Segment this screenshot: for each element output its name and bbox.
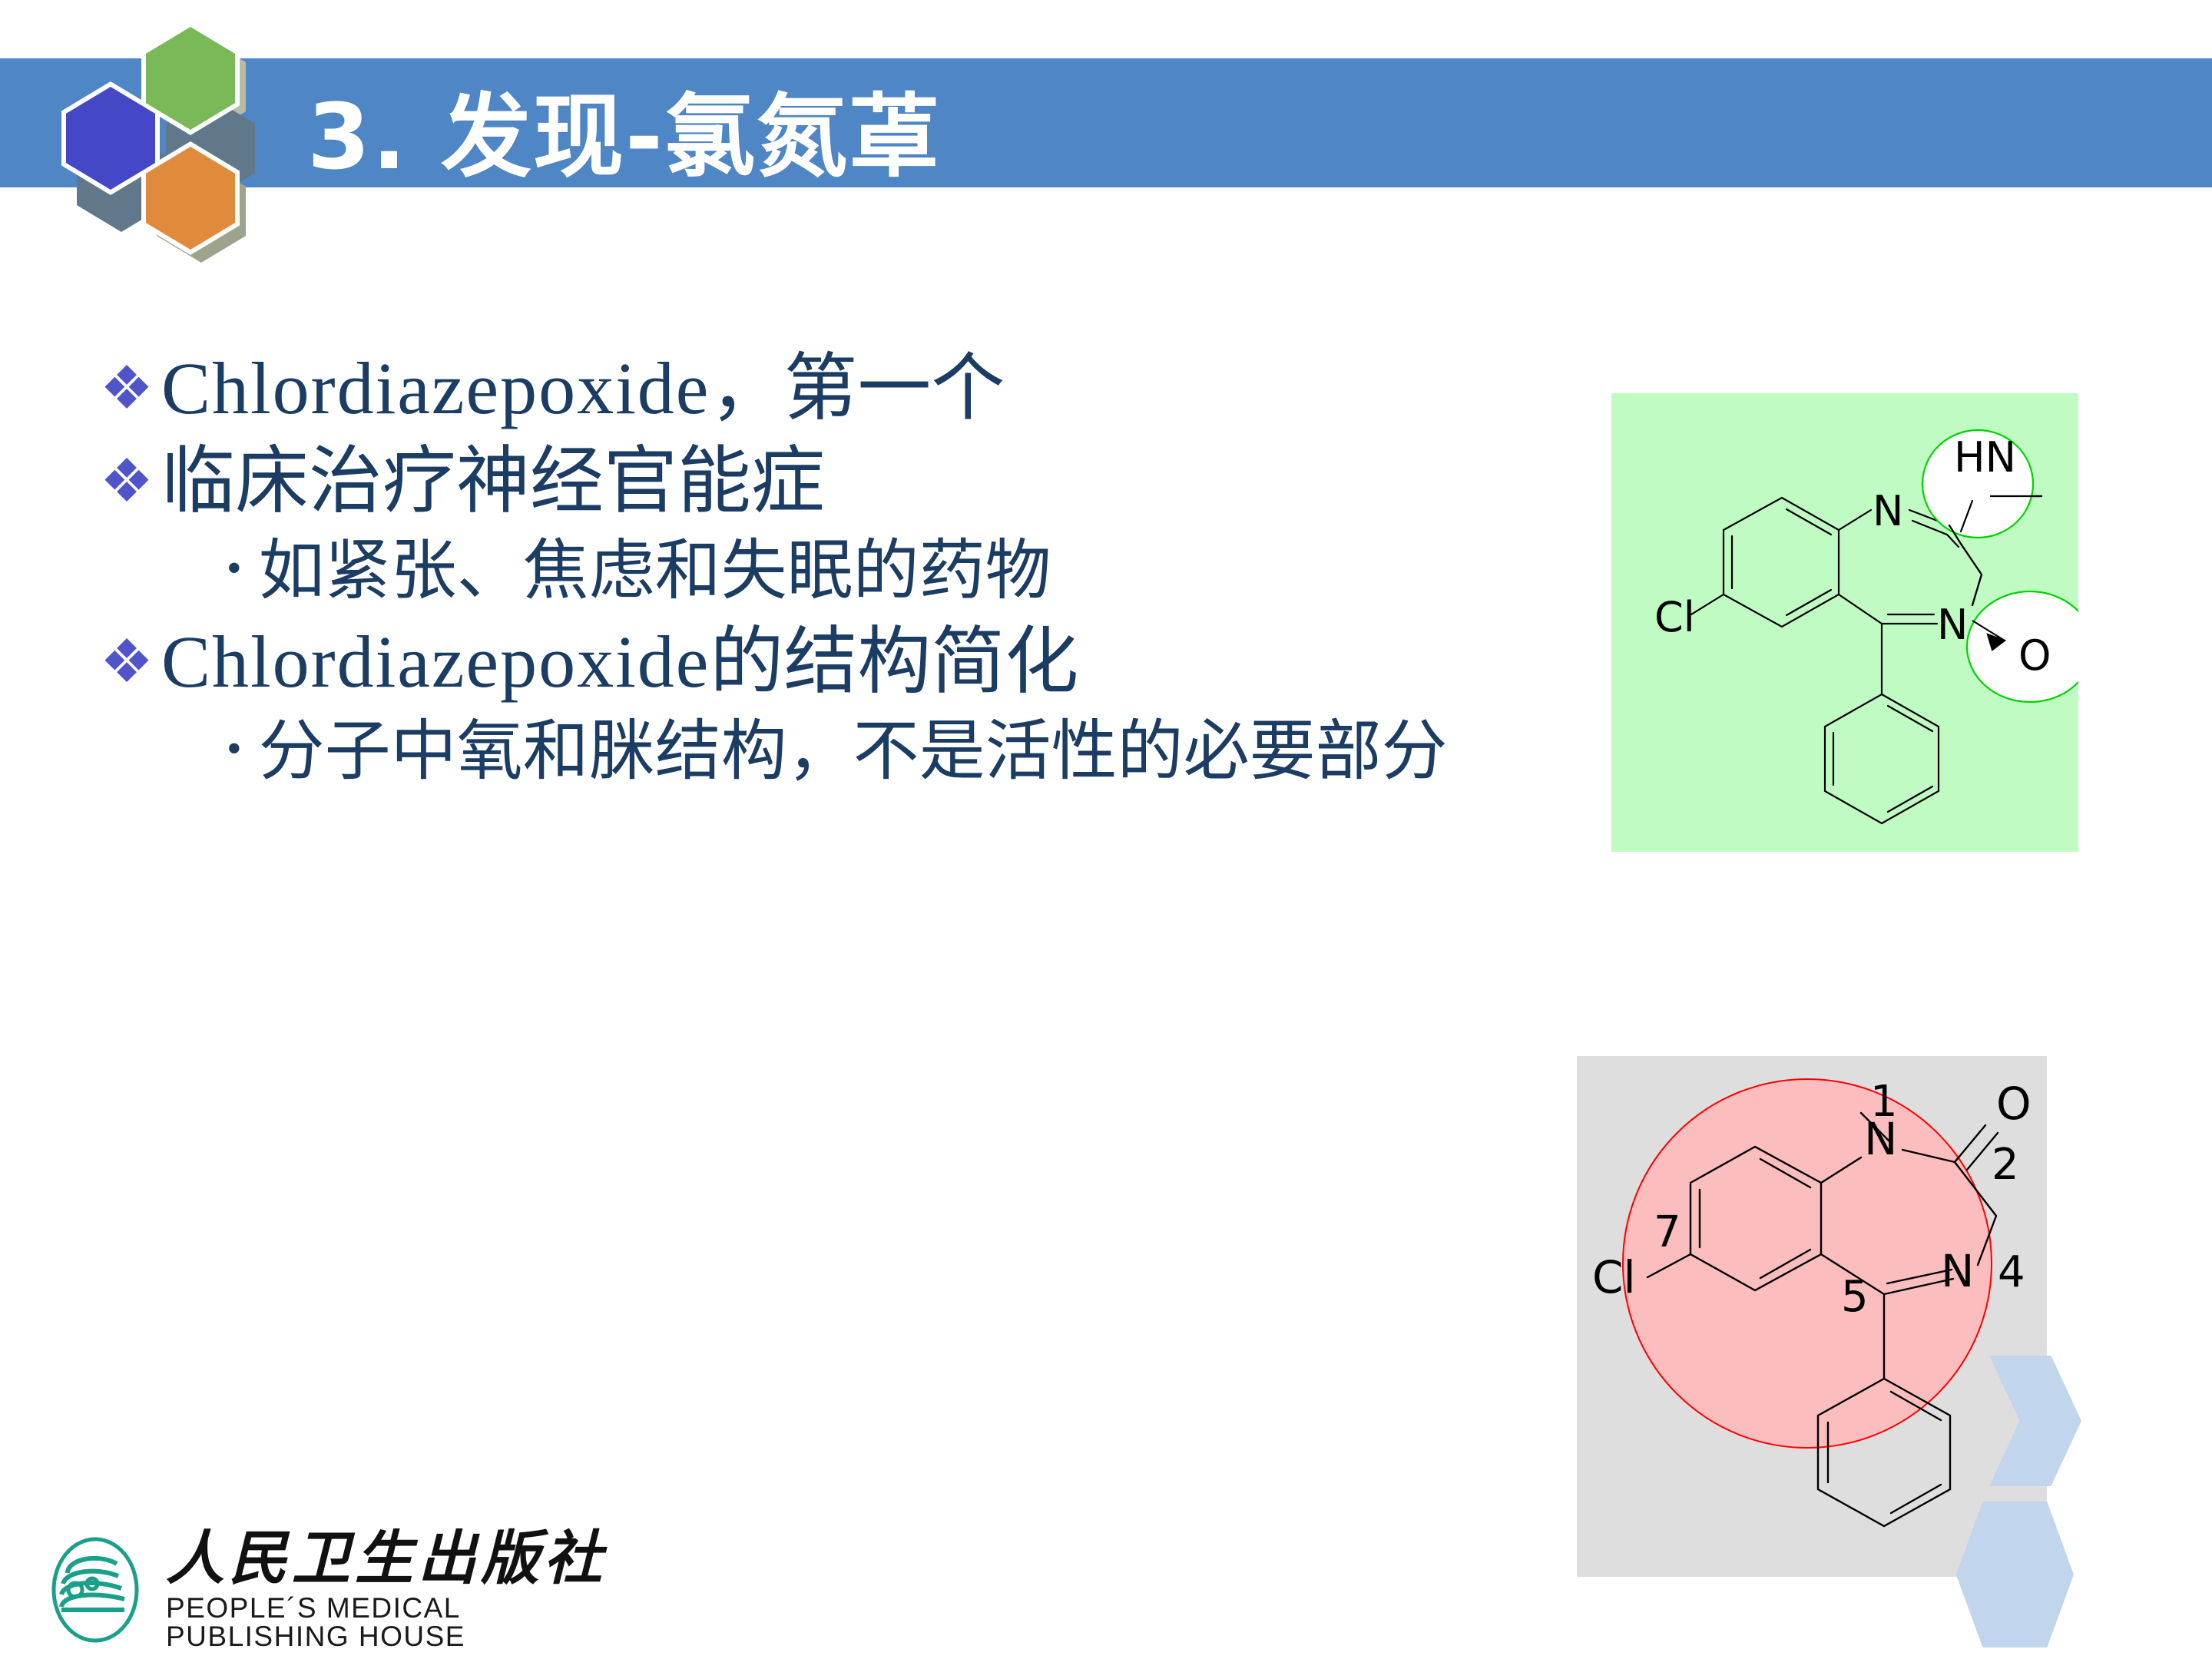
bullet-text-cjk: 分子中氧和脒结构，不是活性的必要部分 xyxy=(259,713,1448,790)
atom-label-o: O xyxy=(2018,631,2051,680)
header-hexagon-logo xyxy=(22,14,283,267)
bullet-text-cjk: ，第一个 xyxy=(710,346,1005,431)
diamond-bullet-icon: ❖ xyxy=(100,628,154,697)
decorative-chevrons xyxy=(1982,1298,2212,1659)
position-number-5: 5 xyxy=(1841,1272,1869,1322)
dot-bullet-icon: • xyxy=(227,724,242,774)
diazepam-structure: Cl N N O 1 2 4 5 7 xyxy=(1577,1056,2047,1577)
position-number-2: 2 xyxy=(1992,1140,2019,1190)
chlordiazepoxide-structure: Cl N N HN O xyxy=(1611,393,2078,852)
atom-label-n1: N xyxy=(1873,487,1903,535)
bullet-text-latin: Chlordiazepoxide xyxy=(161,346,710,431)
atom-label-n4: N xyxy=(1941,1245,1974,1297)
bullet-text-cjk: 临床治疗神经官能症 xyxy=(161,439,825,524)
atom-label-hn: HN xyxy=(1954,433,2016,482)
atom-label-o: O xyxy=(1996,1078,2032,1130)
publisher-name-cn: 人民卫生出版社 xyxy=(166,1529,644,1588)
publisher-mark-icon xyxy=(45,1536,146,1644)
bullet-line-3: • 如紧张、焦虑和失眠的药物 xyxy=(100,532,1598,610)
atom-label-n4: N xyxy=(1937,601,1968,649)
diamond-bullet-icon: ❖ xyxy=(100,354,154,423)
highlight-circle-core xyxy=(1623,1079,1992,1448)
diamond-bullet-icon: ❖ xyxy=(100,447,154,516)
bullet-text-cjk: 如紧张、焦虑和失眠的药物 xyxy=(259,532,1051,610)
bullet-line-5: • 分子中氧和脒结构，不是活性的必要部分 xyxy=(100,713,1598,790)
atom-label-cl: Cl xyxy=(1654,593,1695,641)
publisher-name-en: PEOPLE´S MEDICAL PUBLISHING HOUSE xyxy=(166,1594,644,1651)
dot-bullet-icon: • xyxy=(227,543,242,594)
bullet-line-4: ❖ Chlordiazepoxide 的结构简化 xyxy=(100,619,1598,704)
chevron-hexagon-top xyxy=(1989,1356,2081,1486)
position-number-4: 4 xyxy=(1998,1247,2025,1297)
bullet-line-2: ❖ 临床治疗神经官能症 xyxy=(100,439,1598,524)
bullet-text-latin: Chlordiazepoxide xyxy=(161,619,710,704)
bullet-text-cjk: 的结构简化 xyxy=(710,619,1078,704)
publisher-logo: 人民卫生出版社 PEOPLE´S MEDICAL PUBLISHING HOUS… xyxy=(45,1532,644,1647)
slide-body: ❖ Chlordiazepoxide ，第一个 ❖ 临床治疗神经官能症 • 如紧… xyxy=(100,346,1598,800)
position-number-7: 7 xyxy=(1654,1207,1681,1257)
position-number-1: 1 xyxy=(1870,1077,1898,1127)
page-title: 3. 发现-氯氮䓬 xyxy=(307,71,941,186)
bullet-line-1: ❖ Chlordiazepoxide ，第一个 xyxy=(100,346,1598,431)
atom-label-cl: Cl xyxy=(1592,1251,1636,1303)
